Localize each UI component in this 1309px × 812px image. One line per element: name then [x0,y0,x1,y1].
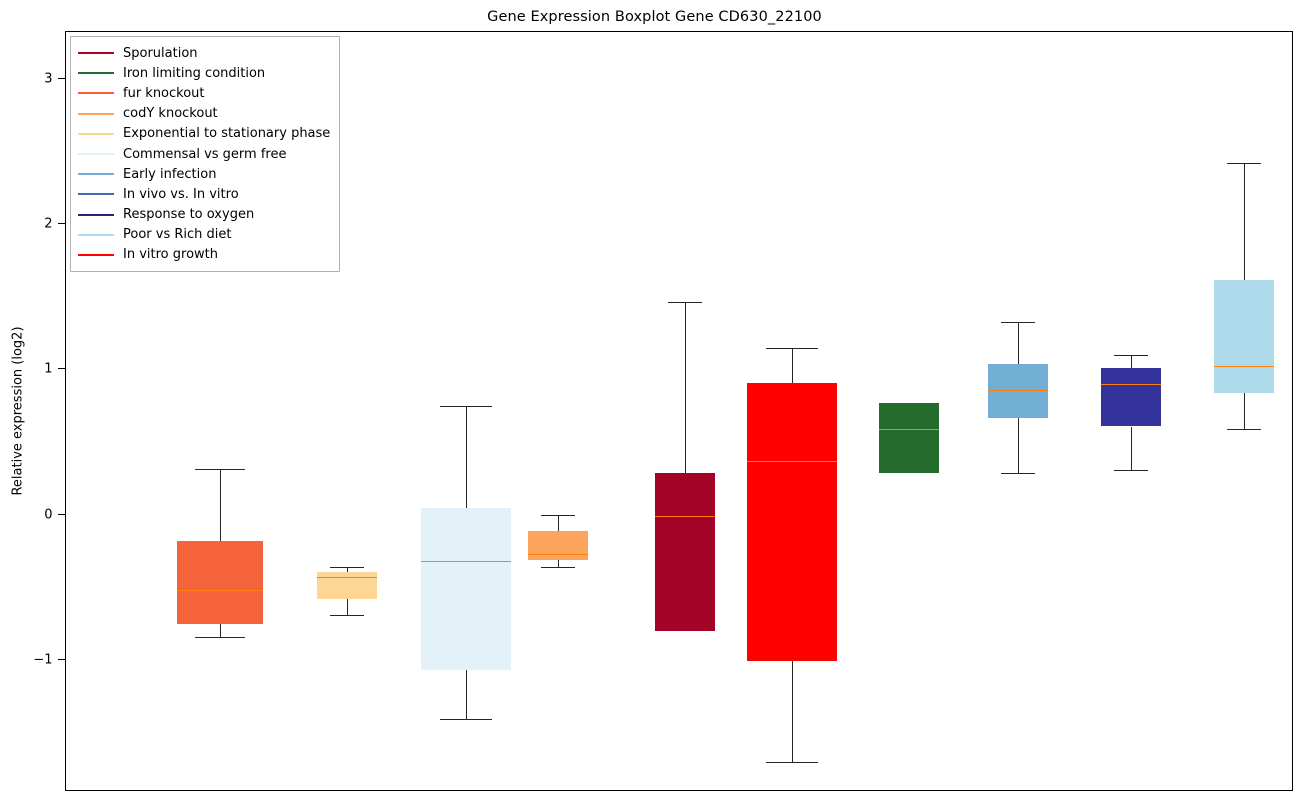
legend-item[interactable]: codY knockout [78,104,330,124]
legend-color-swatch [78,254,114,256]
y-axis-tick-label: 2 [44,217,52,232]
legend-item[interactable]: fur knockout [78,83,330,103]
legend-color-swatch [78,92,114,94]
legend-item-label: fur knockout [123,87,205,100]
legend-item[interactable]: Exponential to stationary phase [78,124,330,144]
legend-color-swatch [78,173,114,175]
y-axis-label: Relative expression (log2) [11,326,26,495]
legend-item[interactable]: In vivo vs. In vitro [78,184,330,204]
legend: SporulationIron limiting conditionfur kn… [70,36,340,272]
plot-area: Relative expression (log2) −10123 Sporul… [65,31,1293,791]
legend-item-label: codY knockout [123,107,218,120]
legend-color-swatch [78,113,114,115]
legend-item-label: Poor vs Rich diet [123,228,231,241]
legend-color-swatch [78,193,114,195]
legend-item-label: Exponential to stationary phase [123,127,330,140]
y-axis-tick: 0 [58,514,67,515]
legend-item-label: Sporulation [123,47,198,60]
y-axis-tick-label: 1 [44,362,52,377]
figure-canvas: Gene Expression Boxplot Gene CD630_22100… [0,0,1309,812]
legend-item-label: In vitro growth [123,248,218,261]
legend-color-swatch [78,234,114,236]
legend-color-swatch [78,52,114,54]
legend-color-swatch [78,214,114,216]
legend-item[interactable]: Commensal vs germ free [78,144,330,164]
y-axis-tick-label: −1 [33,652,52,667]
y-axis-tick: 3 [58,78,67,79]
legend-color-swatch [78,72,114,74]
y-axis-tick-label: 3 [44,72,52,87]
chart-title: Gene Expression Boxplot Gene CD630_22100 [0,9,1309,25]
legend-item-label: Early infection [123,168,216,181]
legend-item[interactable]: Response to oxygen [78,205,330,225]
legend-item[interactable]: Early infection [78,164,330,184]
y-axis-tick: 2 [58,223,67,224]
legend-item-label: Commensal vs germ free [123,148,286,161]
legend-item[interactable]: Iron limiting condition [78,63,330,83]
y-axis-tick: −1 [58,659,67,660]
y-axis-tick-label: 0 [44,507,52,522]
legend-item[interactable]: Poor vs Rich diet [78,225,330,245]
legend-color-swatch [78,153,114,155]
legend-item-label: In vivo vs. In vitro [123,188,239,201]
legend-item-label: Iron limiting condition [123,67,265,80]
legend-item[interactable]: In vitro growth [78,245,330,265]
legend-item[interactable]: Sporulation [78,43,330,63]
legend-item-label: Response to oxygen [123,208,254,221]
y-axis-tick: 1 [58,368,67,369]
legend-color-swatch [78,133,114,135]
